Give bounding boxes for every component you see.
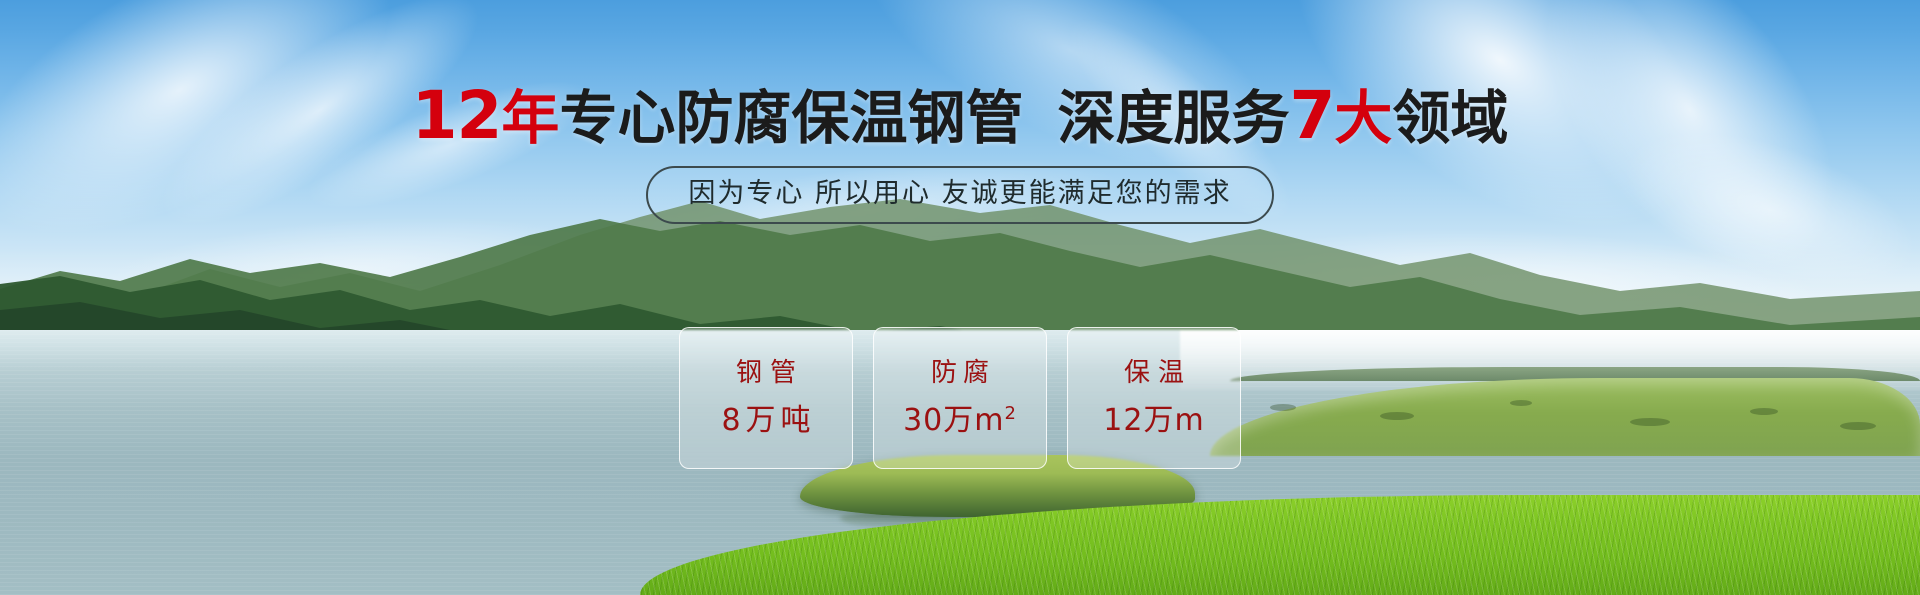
headline-years-number: 12 xyxy=(412,77,502,154)
banner-subtitle-pill: 因为专心 所以用心 友诚更能满足您的需求 xyxy=(646,166,1273,224)
stat-card-steel-pipe: 钢管 8万吨 xyxy=(679,327,853,469)
stat-card-value: 8万吨 xyxy=(716,404,815,438)
stat-card-value-text: 8万吨 xyxy=(721,403,815,438)
hero-banner: 12年专心防腐保温钢管深度服务7大领域 因为专心 所以用心 友诚更能满足您的需求… xyxy=(0,0,1920,595)
headline-dark-part-3: 领域 xyxy=(1392,84,1508,152)
stat-card-insulation: 保温 12万m xyxy=(1067,327,1241,469)
stat-card-title: 保温 xyxy=(1116,358,1192,388)
stat-card-group: 钢管 8万吨 防腐 30万m2 保温 12万m xyxy=(0,327,1920,469)
stat-card-value-text: 30万m xyxy=(903,403,1004,438)
stat-card-anticorrosion: 防腐 30万m2 xyxy=(873,327,1047,469)
stat-card-value: 12万m xyxy=(1103,404,1204,438)
stat-card-value-text: 12万m xyxy=(1103,403,1204,438)
headline-dark-part-2: 深度服务 xyxy=(1057,84,1289,152)
headline-years-unit: 年 xyxy=(501,84,559,152)
stat-card-value-superscript: 2 xyxy=(1004,403,1016,424)
stat-card-value: 30万m2 xyxy=(903,404,1017,438)
banner-subtitle-wrap: 因为专心 所以用心 友诚更能满足您的需求 xyxy=(0,166,1920,224)
headline-dark-part-1: 专心防腐保温钢管 xyxy=(559,84,1023,152)
banner-headline: 12年专心防腐保温钢管深度服务7大领域 xyxy=(0,84,1920,150)
stat-card-title: 钢管 xyxy=(728,358,804,388)
stat-card-title: 防腐 xyxy=(925,358,995,388)
headline-fields-number: 7 xyxy=(1289,77,1334,154)
headline-fields-unit: 大 xyxy=(1334,84,1392,152)
